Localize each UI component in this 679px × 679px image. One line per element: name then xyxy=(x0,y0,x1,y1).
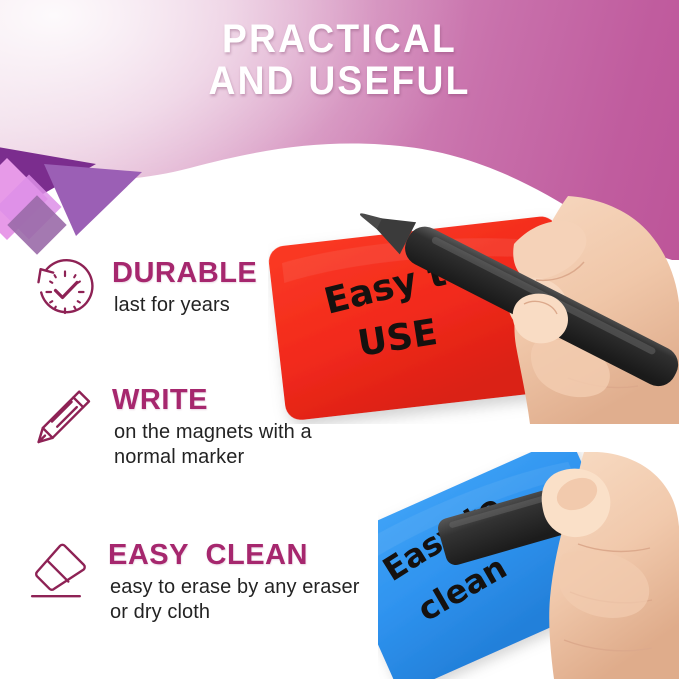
feature-write: WRITE on the magnets with a normal marke… xyxy=(32,383,374,470)
blue-magnet-photo: Easy to clean xyxy=(378,452,679,679)
feature-text: DURABLE last for years xyxy=(108,256,257,318)
feature-description: last for years xyxy=(114,293,257,318)
pencil-icon xyxy=(32,383,98,449)
eraser-icon xyxy=(28,538,94,604)
title-line-2: AND USEFUL xyxy=(24,60,655,102)
feature-heading: EASY CLEAN xyxy=(108,540,370,571)
feature-heading: DURABLE xyxy=(112,258,257,289)
hand-holding-eraser xyxy=(542,452,679,679)
feature-description: easy to erase by any eraser or dry cloth xyxy=(110,575,370,625)
feature-heading: WRITE xyxy=(112,385,374,416)
feature-text: WRITE on the magnets with a normal marke… xyxy=(108,383,374,470)
page-title: PRACTICAL AND USEFUL xyxy=(0,18,679,102)
feature-text: EASY CLEAN easy to erase by any eraser o… xyxy=(104,538,370,625)
product-infographic: PRACTICAL AND USEFUL xyxy=(0,0,679,679)
feature-easy-clean: EASY CLEAN easy to erase by any eraser o… xyxy=(28,538,370,625)
clock-check-icon xyxy=(32,256,98,322)
feature-durable: DURABLE last for years xyxy=(32,256,257,322)
title-line-1: PRACTICAL xyxy=(24,18,655,60)
feature-description: on the magnets with a normal marker xyxy=(114,420,374,470)
